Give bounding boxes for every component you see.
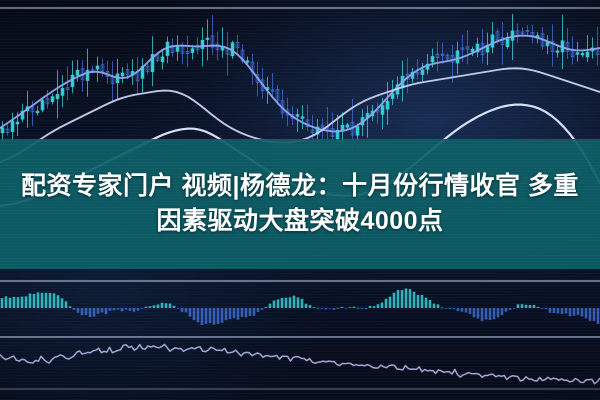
histogram-bar xyxy=(257,308,260,312)
candle-body xyxy=(296,115,299,117)
histogram-bar xyxy=(377,304,380,308)
histogram-bar xyxy=(369,306,372,308)
candle-body xyxy=(431,57,434,62)
histogram-bar xyxy=(265,307,268,308)
histogram-bar xyxy=(361,308,364,309)
panel-separator-1 xyxy=(0,280,600,282)
histogram-bar xyxy=(225,308,228,320)
histogram-bar xyxy=(349,307,352,308)
histogram-bar xyxy=(541,308,544,309)
histogram-bar xyxy=(481,308,484,321)
histogram-bar xyxy=(525,305,528,308)
candle-body xyxy=(346,125,349,127)
histogram-bar xyxy=(577,308,580,315)
histogram-bar xyxy=(109,308,112,311)
histogram-bar xyxy=(277,299,280,308)
histogram-bar xyxy=(193,308,196,320)
histogram-bar xyxy=(313,307,316,308)
candle-body xyxy=(246,61,249,62)
histogram-bar xyxy=(1,298,4,308)
histogram-bar xyxy=(553,308,556,313)
histogram-bar xyxy=(273,301,276,309)
histogram-bar xyxy=(97,308,100,314)
histogram-bar xyxy=(477,308,480,318)
histogram-bar xyxy=(153,305,156,308)
candle-body xyxy=(56,94,59,98)
histogram-bar xyxy=(461,308,464,312)
candle-body xyxy=(176,47,179,52)
histogram-bar xyxy=(493,308,496,319)
histogram-bar xyxy=(557,308,560,313)
histogram-bar xyxy=(565,308,568,314)
histogram-bar xyxy=(417,295,420,308)
candle-body xyxy=(356,127,359,135)
histogram-bar xyxy=(237,308,240,320)
candle-body xyxy=(206,38,209,39)
histogram-bar xyxy=(393,293,396,308)
histogram-bar xyxy=(57,295,60,308)
histogram-bar xyxy=(473,308,476,317)
histogram-bar xyxy=(5,296,8,308)
histogram-bar xyxy=(217,308,220,324)
histogram-bar xyxy=(597,308,600,324)
histogram-bar xyxy=(61,298,64,308)
histogram-bar xyxy=(533,305,536,308)
histogram-bar xyxy=(41,293,44,308)
histogram-bar xyxy=(593,308,596,321)
histogram-bar xyxy=(581,308,584,317)
headline-color-band xyxy=(0,139,600,269)
histogram-bar xyxy=(469,308,472,314)
candle-body xyxy=(61,88,64,95)
panel-separator-3 xyxy=(0,388,600,390)
candle-body xyxy=(76,70,79,75)
candle-body xyxy=(96,66,99,69)
histogram-bar xyxy=(305,304,308,308)
histogram-bar xyxy=(85,308,88,315)
candle-body xyxy=(386,101,389,109)
histogram-bar xyxy=(529,305,532,308)
histogram-bar xyxy=(13,297,16,308)
histogram-bar xyxy=(73,308,76,310)
candle-body xyxy=(11,121,14,132)
histogram-bar xyxy=(585,308,588,318)
histogram-bar xyxy=(561,308,564,314)
histogram-bar xyxy=(17,297,20,308)
histogram-bar xyxy=(173,306,176,308)
histogram-bar xyxy=(501,308,504,315)
histogram-bar xyxy=(397,290,400,308)
histogram-bar xyxy=(457,308,460,311)
candle-body xyxy=(576,53,579,54)
histogram-bar xyxy=(425,298,428,308)
candle-body xyxy=(471,49,474,51)
candle-body xyxy=(491,35,494,47)
histogram-bar xyxy=(9,298,12,308)
histogram-bar xyxy=(517,304,520,308)
histogram-bar xyxy=(297,298,300,309)
histogram-bar xyxy=(573,308,576,316)
candle-body xyxy=(16,122,19,124)
candle-body xyxy=(341,125,344,130)
candle-body xyxy=(191,49,194,53)
candle-body xyxy=(586,52,589,57)
candle-body xyxy=(456,51,459,63)
histogram-bar xyxy=(389,297,392,308)
histogram-bar xyxy=(409,289,412,308)
histogram-bar xyxy=(281,298,284,308)
candle-body xyxy=(511,31,514,40)
histogram-bar xyxy=(49,293,52,308)
histogram-bar xyxy=(569,308,572,316)
histogram-bar xyxy=(197,308,200,322)
moving-average-line-1 xyxy=(0,36,600,132)
candle-body xyxy=(381,106,384,115)
histogram-bar xyxy=(521,304,524,308)
panel-separator-top xyxy=(0,7,600,9)
histogram-bar xyxy=(289,297,292,308)
histogram-bar xyxy=(241,308,244,317)
histogram-bar xyxy=(201,308,204,325)
histogram-bar xyxy=(101,308,104,312)
histogram-bar xyxy=(413,292,416,308)
histogram-bar xyxy=(65,301,68,308)
histogram-bar xyxy=(25,296,28,308)
histogram-bar xyxy=(337,308,340,309)
candle-body xyxy=(41,101,44,111)
histogram-bar xyxy=(229,308,232,319)
histogram-bar xyxy=(233,308,236,318)
histogram-bar xyxy=(205,308,208,324)
histogram-bar xyxy=(589,308,592,321)
histogram-bar xyxy=(181,308,184,312)
histogram-bar xyxy=(161,303,164,308)
histogram-bar xyxy=(405,289,408,309)
histogram-bar xyxy=(189,308,192,317)
histogram-bar xyxy=(137,308,140,311)
histogram-bar xyxy=(165,303,168,308)
candle-body xyxy=(201,40,204,48)
histogram-bar xyxy=(21,297,24,308)
histogram-bar xyxy=(129,308,132,311)
histogram-bar xyxy=(105,308,108,314)
candle-body xyxy=(161,57,164,62)
histogram-bar xyxy=(245,308,248,317)
histogram-bar xyxy=(269,304,272,308)
banner-image: 配资专家门户 视频|杨德龙：十月份行情收官 多重 因素驱动大盘突破4000点 xyxy=(0,0,600,400)
panel-separator-2 xyxy=(0,336,600,338)
histogram-bar xyxy=(185,308,188,312)
histogram-bar xyxy=(497,308,500,318)
histogram-bar xyxy=(89,308,92,317)
histogram-bar xyxy=(301,299,304,308)
candle-body xyxy=(556,51,559,52)
indicator-line xyxy=(0,344,600,383)
histogram-bar xyxy=(549,308,552,313)
histogram-bar xyxy=(37,292,40,308)
candlestick-group xyxy=(1,14,599,151)
histogram-bar xyxy=(29,294,32,309)
histogram-bar xyxy=(401,290,404,308)
histogram-bar xyxy=(121,308,124,311)
histogram-bar xyxy=(381,303,384,309)
histogram-bar xyxy=(209,308,212,323)
histogram-bar xyxy=(433,304,436,308)
histogram-bar xyxy=(385,299,388,308)
histogram-bar xyxy=(373,306,376,308)
histogram-bar xyxy=(505,308,508,312)
histogram-bar xyxy=(293,296,296,308)
histogram-bar xyxy=(489,308,492,320)
histogram-bar xyxy=(145,307,148,308)
histogram-bar xyxy=(157,305,160,309)
histogram-bar xyxy=(309,305,312,308)
histogram-bar xyxy=(437,304,440,308)
candle-body xyxy=(301,117,304,118)
histogram-bar xyxy=(485,308,488,320)
histogram-bar xyxy=(429,300,432,308)
histogram-bar xyxy=(45,293,48,308)
histogram-bar xyxy=(325,308,328,309)
histogram-bar xyxy=(77,308,80,313)
candle-body xyxy=(581,54,584,55)
histogram-bar xyxy=(133,308,136,312)
candle-body xyxy=(1,128,4,133)
macd-histogram-group xyxy=(0,289,600,325)
candle-body xyxy=(421,70,424,75)
histogram-bar xyxy=(421,295,424,308)
candle-body xyxy=(121,73,124,76)
histogram-bar xyxy=(253,308,256,316)
histogram-bar xyxy=(285,298,288,308)
histogram-bar xyxy=(445,308,448,309)
candle-body xyxy=(71,75,74,87)
histogram-bar xyxy=(33,294,36,308)
candle-body xyxy=(51,97,54,102)
histogram-bar xyxy=(93,308,96,317)
histogram-bar xyxy=(113,308,116,310)
histogram-bar xyxy=(213,308,216,325)
histogram-bar xyxy=(249,308,252,316)
histogram-bar xyxy=(221,308,224,323)
histogram-bar xyxy=(169,304,172,308)
candle-body xyxy=(36,111,39,112)
histogram-bar xyxy=(465,308,468,313)
histogram-bar xyxy=(81,308,84,315)
histogram-bar xyxy=(53,293,56,308)
